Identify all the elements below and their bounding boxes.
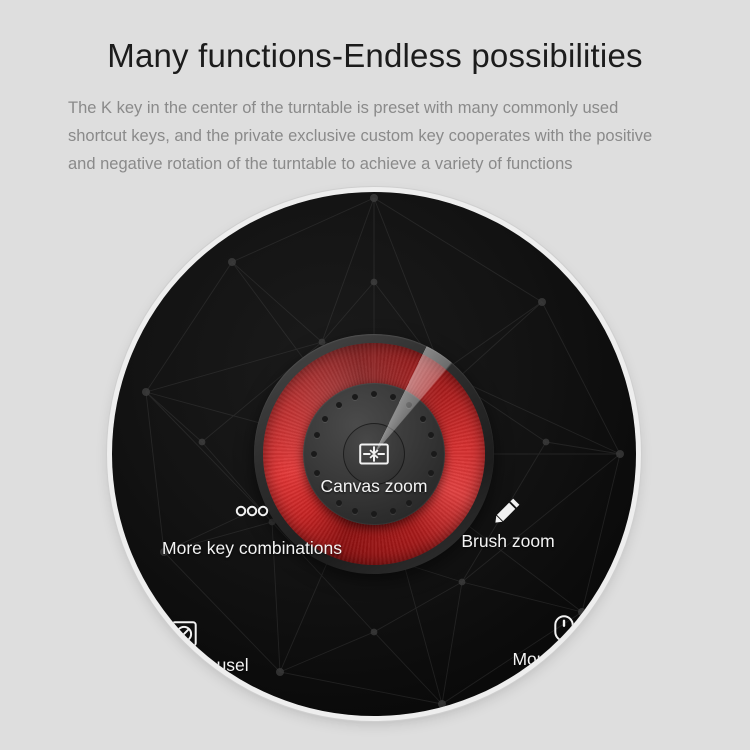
knob-dot — [420, 416, 426, 422]
knob-dot — [322, 416, 328, 422]
feature-label: More key combinations — [162, 538, 342, 559]
feature-label: Canvas zoom — [321, 476, 428, 497]
mouse-icon — [554, 615, 574, 641]
dial-outer-disc: Canvas zoom More key combinations — [112, 192, 636, 716]
knob-dot — [406, 402, 412, 408]
knob-dot — [336, 402, 342, 408]
knob-dot — [390, 394, 396, 400]
feature-label: Disable carousel — [119, 655, 248, 676]
feature-canvas-zoom[interactable]: Canvas zoom — [254, 442, 494, 497]
knob-dot — [352, 394, 358, 400]
feature-label: Brush zoom — [461, 531, 554, 552]
knob-dot — [314, 432, 320, 438]
feature-label: Mouse wheel — [512, 649, 615, 670]
no-entry-icon — [171, 621, 197, 647]
header: Many functions-Endless possibilities The… — [0, 0, 750, 179]
page-description: The K key in the center of the turntable… — [0, 76, 750, 179]
feature-brush-zoom[interactable]: Brush zoom — [388, 497, 628, 552]
feature-disable-carousel[interactable]: Disable carousel — [112, 621, 304, 676]
feature-more-key-combinations[interactable]: More key combinations — [132, 504, 372, 559]
feature-mouse-wheel[interactable]: Mouse wheel — [444, 615, 636, 670]
turntable-dial-widget[interactable]: Canvas zoom More key combinations — [112, 192, 636, 716]
pencil-icon — [495, 497, 521, 523]
knob-dot — [371, 391, 377, 397]
page-title: Many functions-Endless possibilities — [0, 0, 750, 76]
ellipsis-icon — [235, 504, 269, 530]
knob-dot — [428, 432, 434, 438]
canvas-zoom-icon — [359, 442, 389, 468]
